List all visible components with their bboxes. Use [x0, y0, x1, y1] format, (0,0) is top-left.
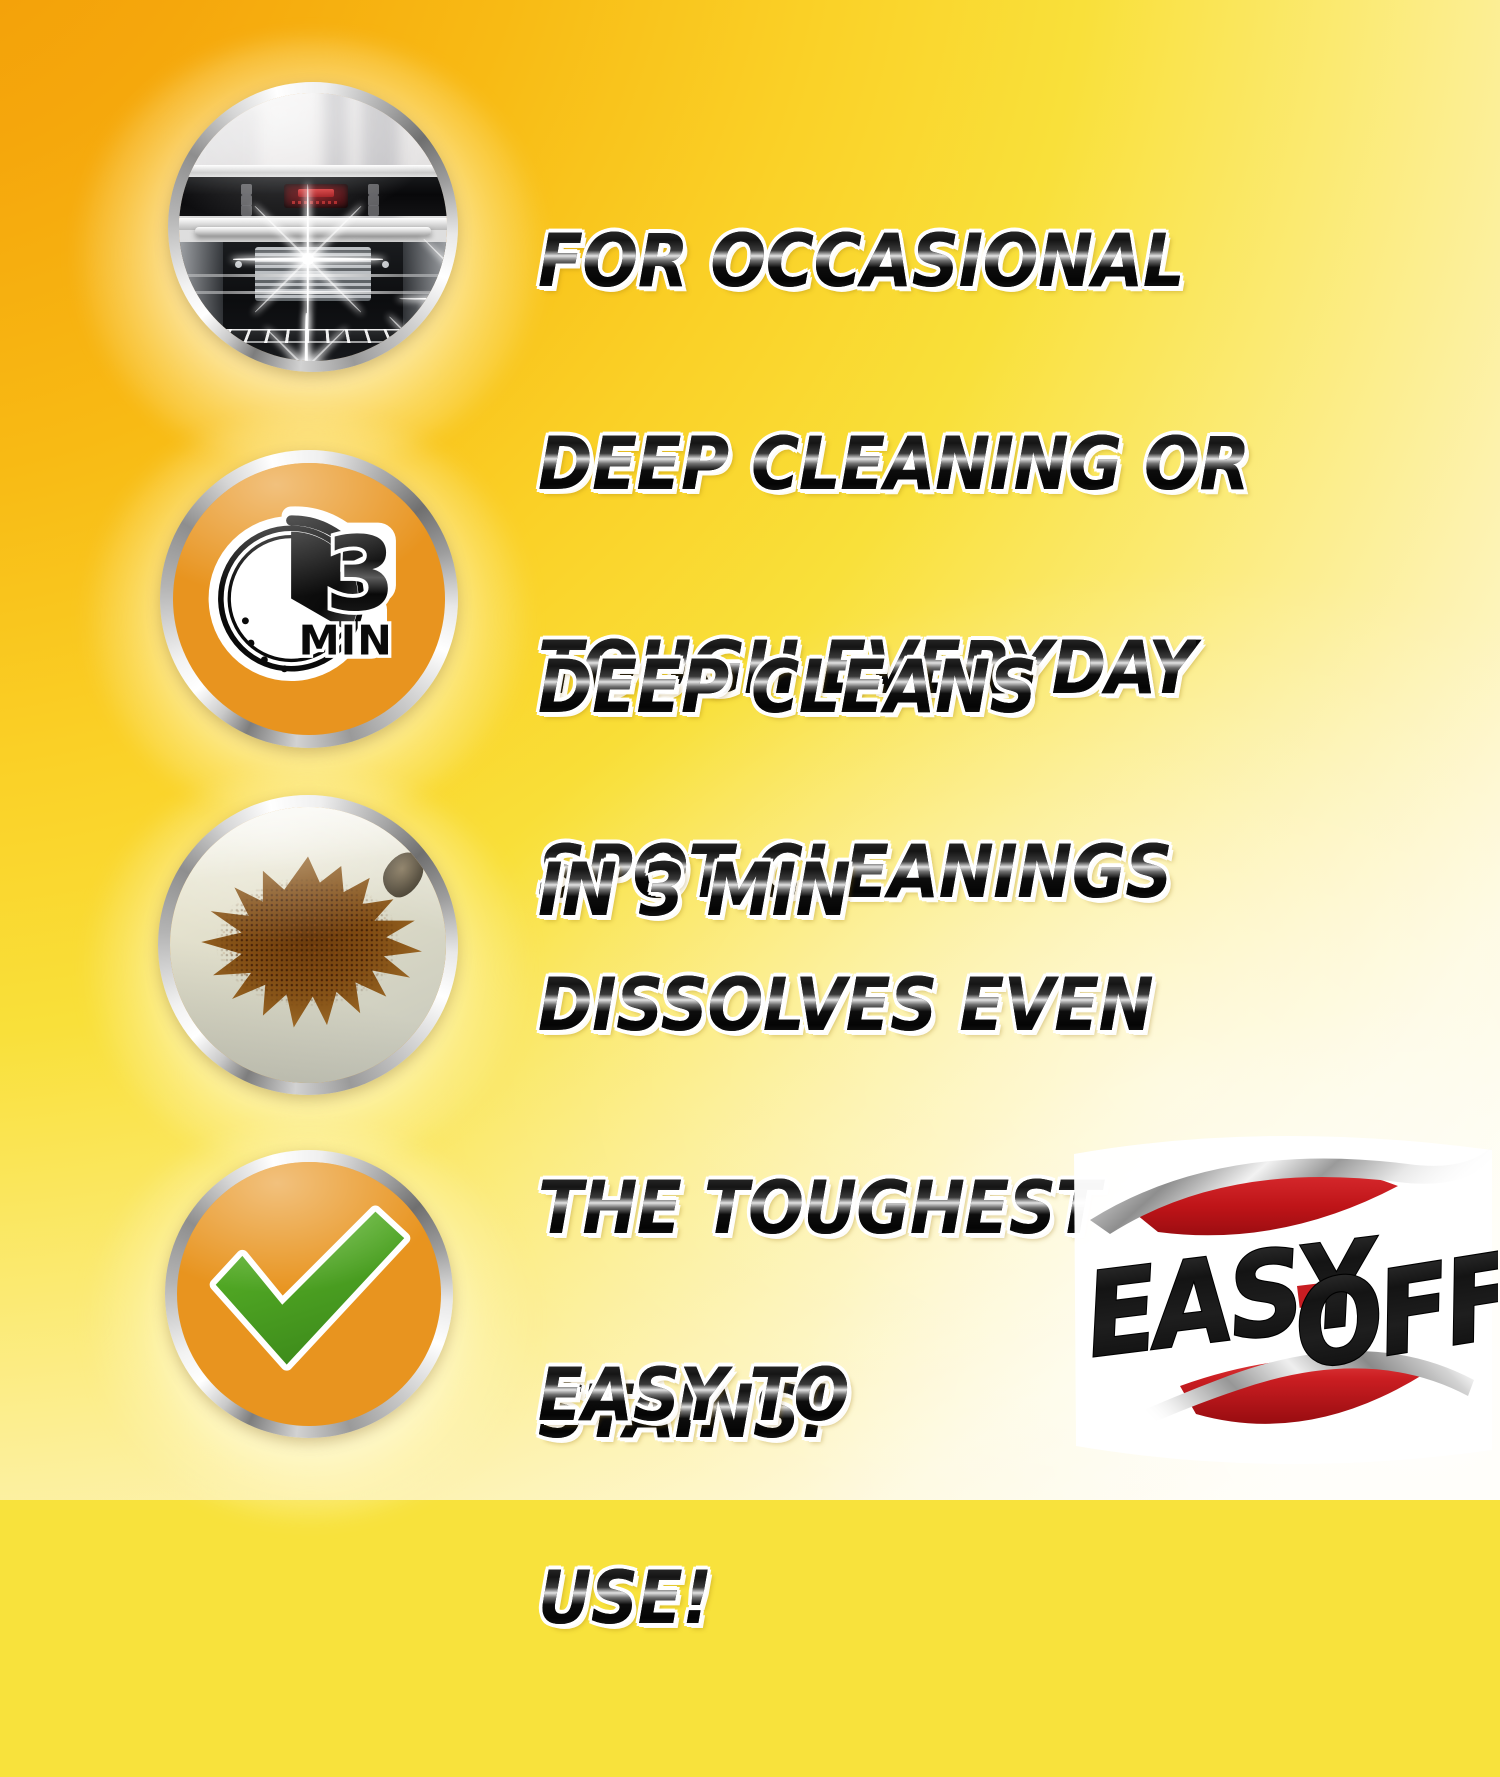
easy-off-logo: EASY OFF — [1068, 1128, 1498, 1478]
badge-metal-ring — [158, 795, 458, 1095]
oven-handle — [195, 227, 431, 236]
badge-metal-ring — [165, 1150, 453, 1438]
headline-line: FOR OCCASIONAL — [538, 228, 1250, 296]
oven-rack — [180, 329, 446, 343]
badge-metal-ring — [168, 82, 458, 372]
oven-cavity — [179, 242, 447, 361]
feature-text-easy-to-use: EASY TO USE! — [538, 1226, 849, 1769]
baked-on-stain-photo-icon — [170, 807, 446, 1083]
timer-unit: MIN — [299, 617, 393, 665]
three-minute-timer-icon: 3 MIN — [173, 463, 445, 735]
feature-badge-easy-to-use — [60, 1095, 560, 1515]
oven-led-display — [284, 184, 348, 208]
oven-control-panel — [179, 177, 447, 216]
headline-line: EASY TO — [538, 1362, 849, 1430]
stain-photo — [170, 807, 446, 1083]
clean-oven-photo-icon — [179, 93, 447, 361]
green-checkmark-icon — [177, 1162, 441, 1426]
checkmark-graphic — [177, 1162, 441, 1426]
headline-line: DEEP CLEANING OR — [538, 431, 1250, 499]
badge-metal-ring: 3 MIN — [160, 450, 458, 748]
oven-photo — [179, 93, 447, 361]
headline-line: USE! — [538, 1565, 849, 1633]
headline-line: DISSOLVES EVEN — [538, 972, 1153, 1040]
timer-graphic: 3 MIN — [173, 463, 445, 735]
headline-line: DEEP CLEANS — [538, 654, 1036, 722]
